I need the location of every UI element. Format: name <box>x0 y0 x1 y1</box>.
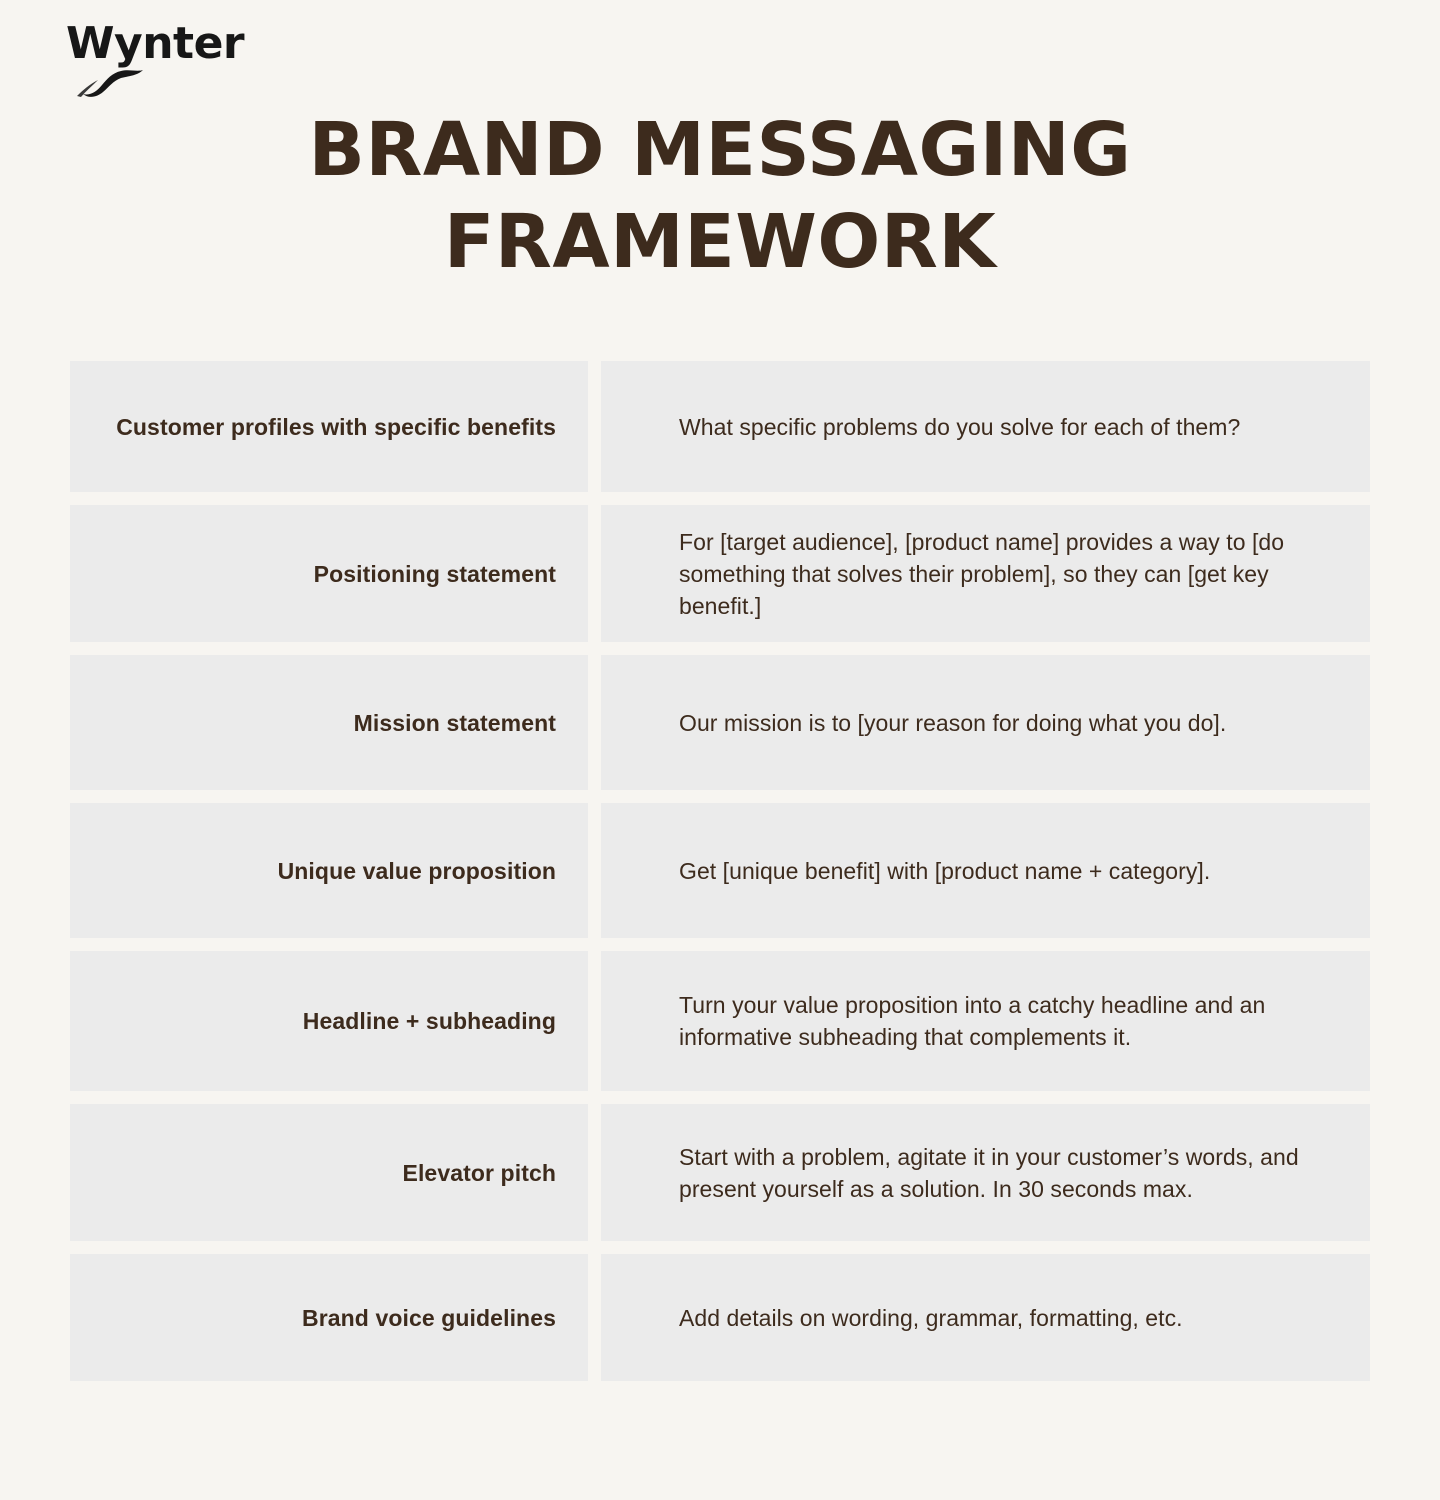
page-title-line-1: BRAND MESSAGING <box>0 104 1440 196</box>
table-cell-term: Mission statement <box>70 655 588 790</box>
term-label: Headline + subheading <box>303 1004 556 1038</box>
description-text: Get [unique benefit] with [product name … <box>679 855 1210 887</box>
description-text: Add details on wording, grammar, formatt… <box>679 1302 1183 1334</box>
term-label: Brand voice guidelines <box>302 1301 556 1335</box>
table-cell-term: Elevator pitch <box>70 1104 588 1241</box>
page-title-line-2: FRAMEWORK <box>0 196 1440 288</box>
table-row: Elevator pitch Start with a problem, agi… <box>70 1104 1370 1241</box>
description-text: What specific problems do you solve for … <box>679 411 1240 443</box>
page-title: BRAND MESSAGING FRAMEWORK <box>0 104 1440 288</box>
framework-table: Customer profiles with specific benefits… <box>70 361 1370 1381</box>
logo-wordmark: Wynter <box>66 20 296 68</box>
table-row: Brand voice guidelines Add details on wo… <box>70 1254 1370 1381</box>
table-cell-description: What specific problems do you solve for … <box>601 361 1370 492</box>
brand-logo: Wynter <box>66 20 296 92</box>
table-cell-description: Our mission is to [your reason for doing… <box>601 655 1370 790</box>
term-label: Positioning statement <box>314 557 556 591</box>
term-label: Unique value proposition <box>278 854 556 888</box>
table-row: Headline + subheading Turn your value pr… <box>70 951 1370 1091</box>
description-text: For [target audience], [product name] pr… <box>679 526 1319 622</box>
description-text: Turn your value proposition into a catch… <box>679 989 1319 1053</box>
table-cell-description: Get [unique benefit] with [product name … <box>601 803 1370 938</box>
description-text: Start with a problem, agitate it in your… <box>679 1141 1319 1205</box>
term-label: Customer profiles with specific benefits <box>116 410 556 444</box>
table-cell-term: Customer profiles with specific benefits <box>70 361 588 492</box>
table-cell-term: Positioning statement <box>70 505 588 642</box>
table-cell-term: Brand voice guidelines <box>70 1254 588 1381</box>
table-row: Customer profiles with specific benefits… <box>70 361 1370 492</box>
table-row: Unique value proposition Get [unique ben… <box>70 803 1370 938</box>
table-cell-description: Start with a problem, agitate it in your… <box>601 1104 1370 1241</box>
table-row: Positioning statement For [target audien… <box>70 505 1370 642</box>
table-cell-term: Unique value proposition <box>70 803 588 938</box>
description-text: Our mission is to [your reason for doing… <box>679 707 1226 739</box>
table-row: Mission statement Our mission is to [you… <box>70 655 1370 790</box>
term-label: Mission statement <box>354 706 556 740</box>
table-cell-description: Add details on wording, grammar, formatt… <box>601 1254 1370 1381</box>
term-label: Elevator pitch <box>403 1156 557 1190</box>
table-cell-description: For [target audience], [product name] pr… <box>601 505 1370 642</box>
table-cell-term: Headline + subheading <box>70 951 588 1091</box>
table-cell-description: Turn your value proposition into a catch… <box>601 951 1370 1091</box>
